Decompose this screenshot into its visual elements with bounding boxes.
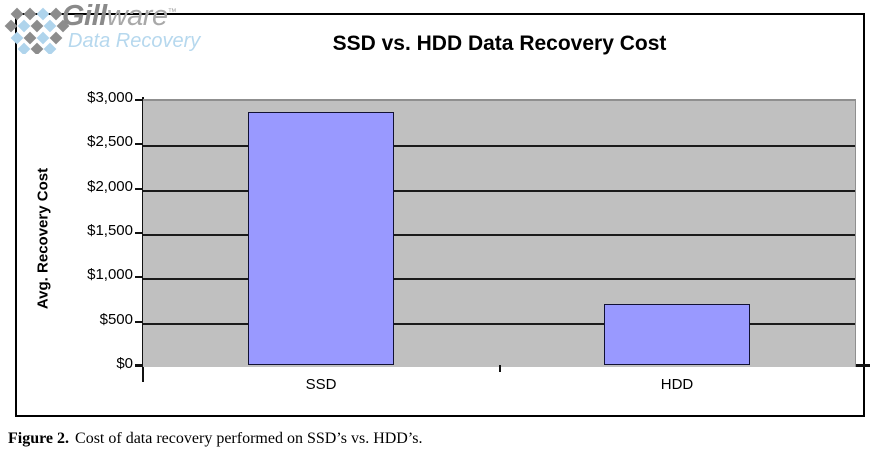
y-axis-tick-label: $1,000 — [33, 266, 133, 283]
y-axis-tick — [135, 365, 143, 367]
figure-caption-text: Cost of data recovery performed on SSD’s… — [69, 430, 423, 447]
y-axis-tick — [135, 321, 143, 323]
y-axis-tick — [135, 276, 143, 278]
y-axis-tick-label: $2,000 — [33, 178, 133, 195]
y-axis-tick-label: $3,000 — [33, 89, 133, 106]
y-axis-tick-label: $2,500 — [33, 133, 133, 150]
y-axis-tick — [135, 99, 143, 101]
x-axis-tick — [499, 365, 501, 372]
y-axis-tick — [135, 143, 143, 145]
y-axis-tick — [135, 188, 143, 190]
chart-frame: SSD vs. HDD Data Recovery Cost Avg. Reco… — [15, 13, 865, 417]
figure-caption: Figure 2.Cost of data recovery performed… — [8, 430, 868, 448]
y-axis-tick-label: $0 — [33, 355, 133, 372]
bar-ssd[interactable] — [248, 112, 394, 365]
chart-title-text: SSD vs. HDD Data Recovery Cost — [218, 32, 667, 56]
figure-caption-label: Figure 2. — [8, 430, 69, 447]
y-axis-tick-label: $1,500 — [33, 222, 133, 239]
y-axis-tick-labels: $0$500$1,000$1,500$2,000$2,500$3,000 — [23, 15, 133, 415]
x-axis-tick-label: HDD — [617, 376, 737, 393]
y-axis-tick — [135, 232, 143, 234]
chart-title: SSD vs. HDD Data Recovery Cost — [17, 32, 867, 56]
x-axis-tick-label: SSD — [261, 376, 381, 393]
bar-hdd[interactable] — [604, 304, 750, 365]
y-axis-tick-label: $500 — [33, 311, 133, 328]
